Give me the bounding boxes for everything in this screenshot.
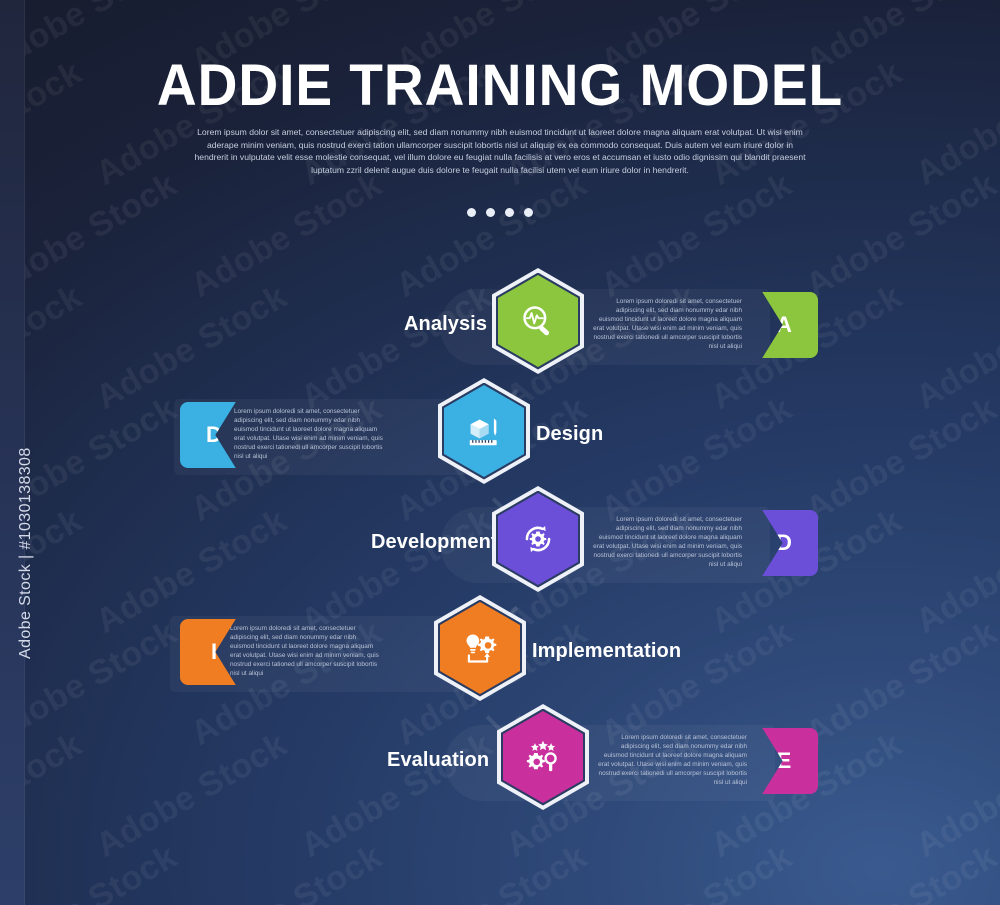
step-hexagon[interactable]: [444, 385, 524, 489]
step-description: Lorem ipsum doloredi sit amet, consectet…: [234, 407, 386, 462]
step-hexagon[interactable]: [440, 602, 520, 706]
step-row: Lorem ipsum doloredi sit amet, consectet…: [0, 711, 1000, 821]
cube-pencil-ruler-icon: [444, 385, 524, 477]
step-letter: A: [776, 314, 792, 336]
step-letter: D: [776, 532, 792, 554]
watermark-text: Adobe Stock: [800, 837, 1000, 905]
step-row: Lorem ipsum doloredi sit amet, consectet…: [0, 493, 1000, 603]
step-hexagon[interactable]: [503, 711, 583, 815]
step-label: Implementation: [532, 640, 681, 663]
stock-id-label: Adobe Stock | #1030138308: [17, 399, 35, 659]
decorative-dots: [0, 208, 1000, 217]
step-hexagon[interactable]: [498, 275, 578, 379]
stars-gear-magnifier-icon: [503, 711, 583, 803]
step-label: Design: [536, 423, 603, 446]
dot-indicator: [467, 208, 476, 217]
dot-indicator: [505, 208, 514, 217]
step-letter: E: [777, 750, 792, 772]
step-row: Lorem ipsum doloredi sit amet, consectet…: [0, 602, 1000, 712]
page-title: ADDIE TRAINING MODEL: [25, 52, 975, 119]
dot-indicator: [486, 208, 495, 217]
step-description: Lorem ipsum doloredi sit amet, consectet…: [590, 297, 742, 352]
dot-indicator: [524, 208, 533, 217]
watermark-text: Adobe Stock: [595, 837, 799, 905]
step-row: Lorem ipsum doloredi sit amet, consectet…: [0, 385, 1000, 495]
page-subtitle: Lorem ipsum dolor sit amet, consectetuer…: [190, 126, 810, 176]
magnifier-pulse-icon: [498, 275, 578, 367]
watermark-text: Adobe Stock: [390, 837, 594, 905]
step-label: Evaluation: [387, 749, 489, 772]
watermark-text: Adobe Stock: [0, 837, 184, 905]
step-label: Development: [371, 531, 498, 554]
step-row: Lorem ipsum doloredi sit amet, consectet…: [0, 275, 1000, 385]
step-description: Lorem ipsum doloredi sit amet, consectet…: [590, 515, 742, 570]
bulb-gear-process-icon: [440, 602, 520, 694]
step-description: Lorem ipsum doloredi sit amet, consectet…: [230, 624, 382, 679]
step-description: Lorem ipsum doloredi sit amet, consectet…: [595, 733, 747, 788]
watermark-text: Adobe Stock: [185, 837, 389, 905]
gear-refresh-icon: [498, 493, 578, 585]
step-hexagon[interactable]: [498, 493, 578, 597]
step-label: Analysis: [404, 313, 487, 336]
stock-gutter: Adobe Stock | #1030138308: [0, 0, 25, 905]
infographic-canvas: Adobe StockAdobe StockAdobe StockAdobe S…: [0, 0, 1000, 905]
